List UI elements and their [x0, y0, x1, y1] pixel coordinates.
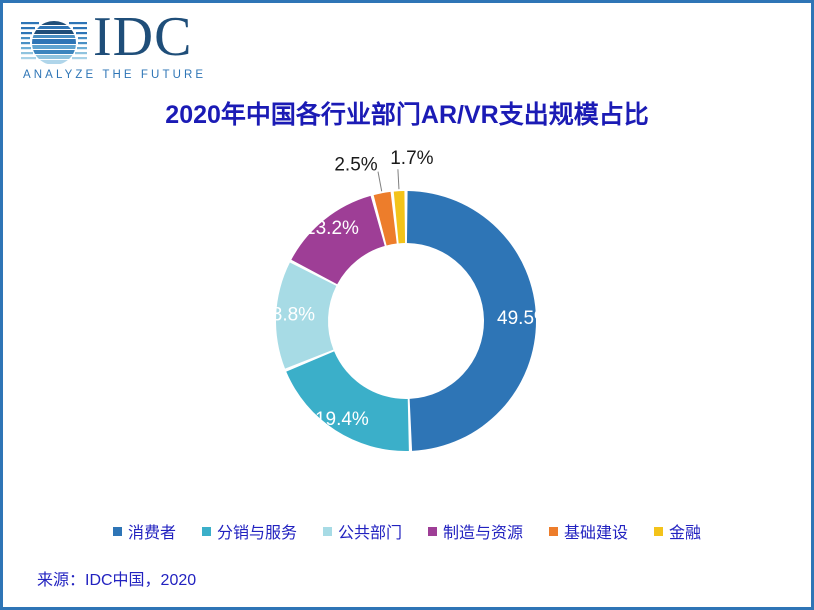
source-note: 来源：IDC中国，2020 [37, 566, 196, 590]
chart-page: IDC ANALYZE THE FUTURE 2020年中国各行业部门AR/VR… [0, 0, 814, 610]
legend-item[interactable]: 制造与资源 [428, 519, 523, 543]
legend-item[interactable]: 基础建设 [549, 519, 628, 543]
slice-data-label: 1.7% [390, 148, 433, 169]
legend-label: 金融 [669, 519, 701, 543]
legend-swatch-icon [113, 527, 122, 536]
chart-title: 2020年中国各行业部门AR/VR支出规模占比 [3, 95, 811, 131]
donut-slice[interactable] [286, 351, 409, 451]
label-leader-line [398, 169, 399, 189]
logo-tagline: ANALYZE THE FUTURE [23, 69, 206, 81]
legend-label: 消费者 [128, 519, 176, 543]
logo-wordmark: IDC [93, 9, 192, 65]
chart-legend: 消费者分销与服务公共部门制造与资源基础建设金融 [3, 519, 811, 543]
legend-item[interactable]: 金融 [654, 519, 701, 543]
idc-logo: IDC ANALYZE THE FUTURE [17, 15, 227, 83]
legend-label: 制造与资源 [443, 519, 523, 543]
label-leader-line [378, 172, 382, 192]
slice-data-label: 2.5% [334, 155, 377, 176]
slice-data-label: 49.5% [497, 308, 551, 329]
slice-data-label: 13.8% [261, 305, 315, 326]
legend-item[interactable]: 分销与服务 [202, 519, 297, 543]
donut-chart: 49.5%19.4%13.8%13.2%2.5%1.7% [276, 191, 536, 451]
legend-item[interactable]: 公共部门 [323, 519, 402, 543]
legend-swatch-icon [428, 527, 437, 536]
legend-item[interactable]: 消费者 [113, 519, 176, 543]
legend-label: 分销与服务 [217, 519, 297, 543]
legend-label: 基础建设 [564, 519, 628, 543]
idc-globe-icon [21, 17, 87, 69]
slice-data-label: 19.4% [315, 409, 369, 430]
legend-swatch-icon [202, 527, 211, 536]
slice-data-label: 13.2% [305, 218, 359, 239]
donut-chart-svg: 49.5%19.4%13.8%13.2%2.5%1.7% [276, 191, 536, 451]
legend-swatch-icon [654, 527, 663, 536]
legend-label: 公共部门 [338, 519, 402, 543]
legend-swatch-icon [549, 527, 558, 536]
legend-swatch-icon [323, 527, 332, 536]
